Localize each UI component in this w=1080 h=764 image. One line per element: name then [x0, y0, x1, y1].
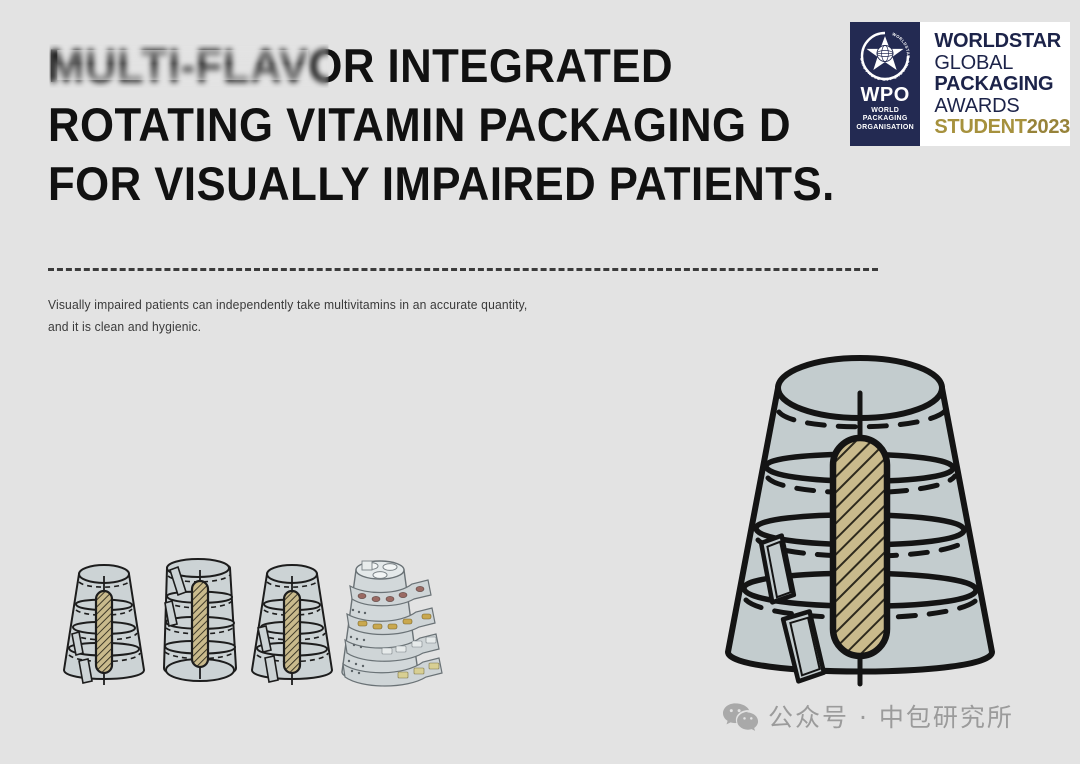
award-title-panel: WORLDSTAR GLOBAL PACKAGING AWARDS STUDEN… — [920, 22, 1070, 146]
title-line-1: MULTI-FLAVOR INTEGRATED — [48, 36, 866, 95]
section-divider — [48, 268, 878, 271]
dispenser-column — [833, 438, 887, 656]
dispenser-view-exploded-labels — [336, 548, 432, 698]
page-title: MULTI-FLAVOR INTEGRATED ROTATING VITAMIN… — [48, 36, 928, 213]
wechat-watermark: 公众号 · 中包研究所 — [722, 698, 1014, 734]
wechat-icon — [722, 701, 758, 731]
wpo-abbreviation: WPO — [861, 85, 910, 105]
description-text: Visually impaired patients can independe… — [48, 294, 679, 338]
title-line-1-text: MULTI-FLAVOR INTEGRATED — [48, 39, 673, 92]
dispenser-view-rotated — [152, 548, 248, 698]
award-student-label: STUDENT — [934, 116, 1026, 138]
wpo-star-globe-icon: WORLDSTAR STUDENT AND PACKAGING — [857, 28, 913, 84]
award-line-student-year: STUDENT2023 — [934, 117, 1070, 139]
award-line-worldstar: WORLDSTAR — [934, 31, 1070, 53]
dispenser-view-front — [56, 548, 152, 698]
poster-canvas: MULTI-FLAVOR INTEGRATED ROTATING VITAMIN… — [0, 0, 1080, 764]
award-year: 2023 — [1027, 116, 1070, 138]
wpo-full-line-1: WORLD — [856, 107, 914, 115]
description-line-1: Visually impaired patients can independe… — [48, 294, 679, 316]
wechat-watermark-text: 公众号 · 中包研究所 — [768, 698, 1014, 734]
worldstar-award-badge: WORLDSTAR STUDENT AND PACKAGING WPO WORL… — [850, 22, 1070, 146]
title-line-2: ROTATING VITAMIN PACKAGING D — [48, 95, 866, 154]
wpo-full-name: WORLD PACKAGING ORGANISATION — [856, 107, 914, 132]
wpo-full-line-3: ORGANISATION — [856, 124, 914, 132]
wpo-full-line-2: PACKAGING — [856, 115, 914, 123]
award-line-awards: AWARDS — [934, 96, 1070, 118]
dispenser-view-angled — [244, 548, 340, 698]
rotating-vitamin-dispenser-main — [700, 300, 1020, 700]
dispenser-thumbnail-row — [48, 548, 438, 698]
title-line-3: FOR VISUALLY IMPAIRED PATIENTS. — [48, 154, 866, 213]
award-line-global: GLOBAL — [934, 53, 1070, 75]
wpo-logo-panel: WORLDSTAR STUDENT AND PACKAGING WPO WORL… — [850, 22, 920, 146]
description-line-2: and it is clean and hygienic. — [48, 316, 679, 338]
award-line-packaging: PACKAGING — [934, 74, 1070, 96]
